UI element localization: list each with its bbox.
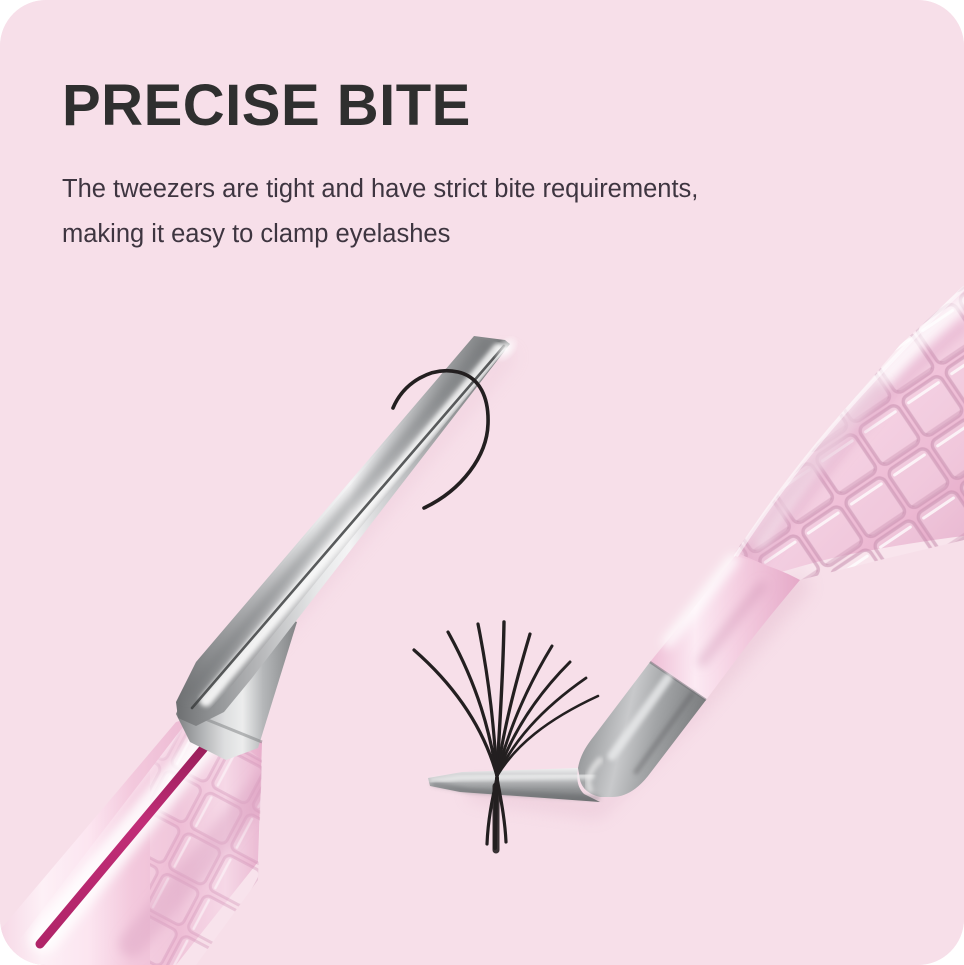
page-title: PRECISE BITE: [62, 76, 862, 137]
page-subtitle: The tweezers are tight and have strict b…: [62, 167, 802, 258]
product-feature-card: PRECISE BITE The tweezers are tight and …: [0, 0, 964, 965]
text-block: PRECISE BITE The tweezers are tight and …: [62, 76, 862, 258]
page-subtitle-line-2: making it easy to clamp eyelashes: [62, 212, 802, 257]
page-subtitle-line-1: The tweezers are tight and have strict b…: [62, 167, 802, 212]
